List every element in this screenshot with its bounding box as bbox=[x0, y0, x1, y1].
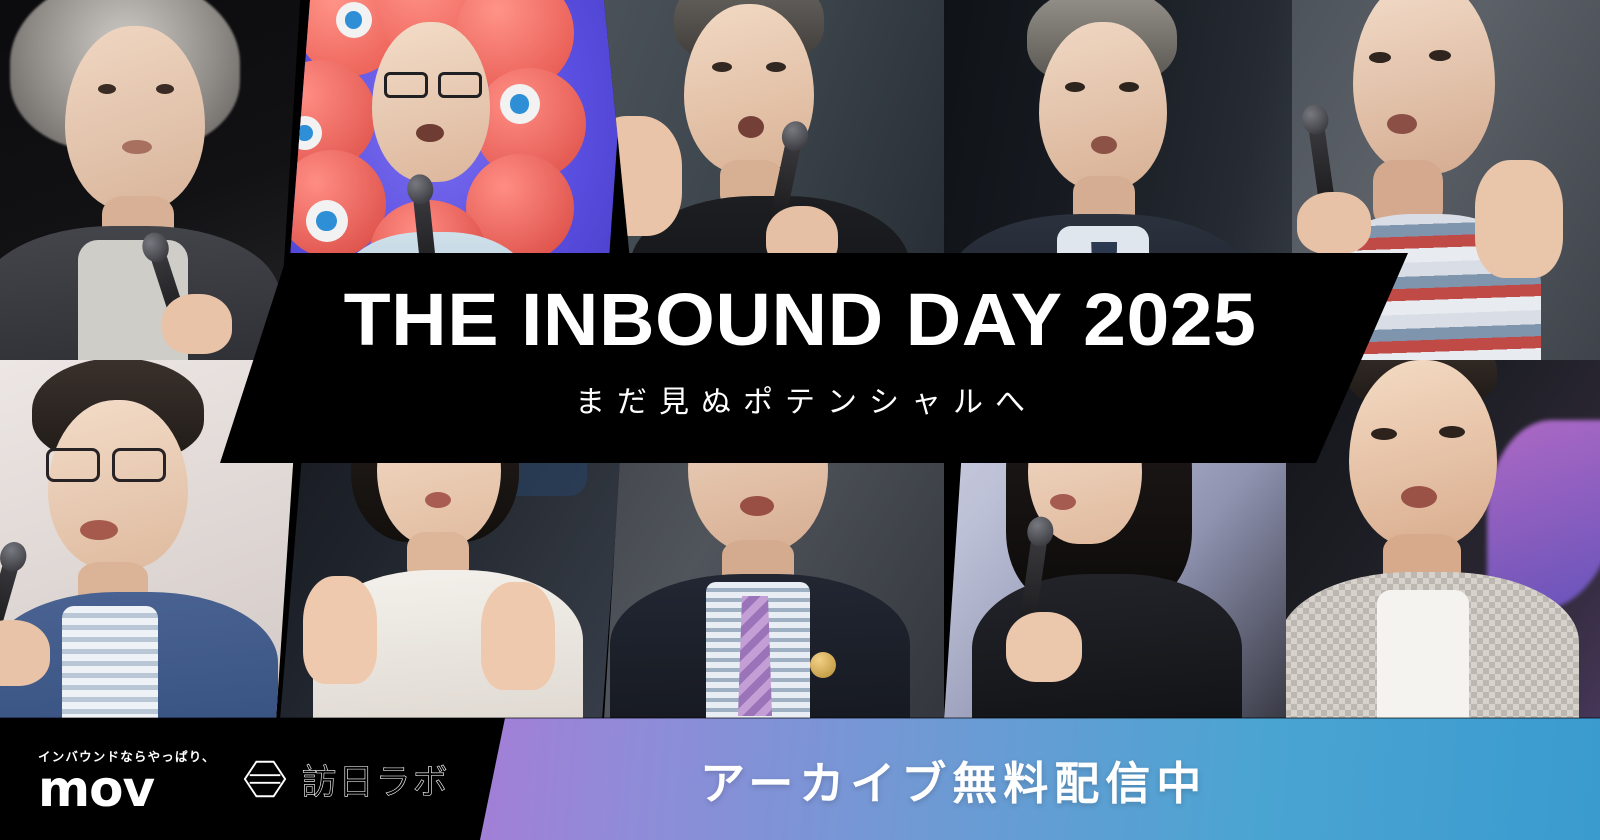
bottom-bar: インバウンドならやっぱり、 mov 訪日ラボ アーカイブ無料配信中 bbox=[0, 718, 1600, 840]
hexagon-mark-icon bbox=[242, 756, 288, 802]
hojilabo-logo[interactable]: 訪日ラボ bbox=[242, 754, 450, 805]
event-banner-hero: THE INBOUND DAY 2025 まだ見ぬポテンシャルへ インバウンドな… bbox=[0, 0, 1600, 840]
hojilabo-wordmark: 訪日ラボ bbox=[302, 754, 450, 805]
archive-cta-text[interactable]: アーカイブ無料配信中 bbox=[700, 718, 1207, 840]
logo-lockup[interactable]: インバウンドならやっぱり、 mov 訪日ラボ bbox=[38, 718, 450, 840]
speaker-photo-1 bbox=[0, 0, 300, 360]
mov-logo[interactable]: インバウンドならやっぱり、 mov bbox=[38, 746, 216, 812]
mov-wordmark: mov bbox=[38, 767, 216, 812]
